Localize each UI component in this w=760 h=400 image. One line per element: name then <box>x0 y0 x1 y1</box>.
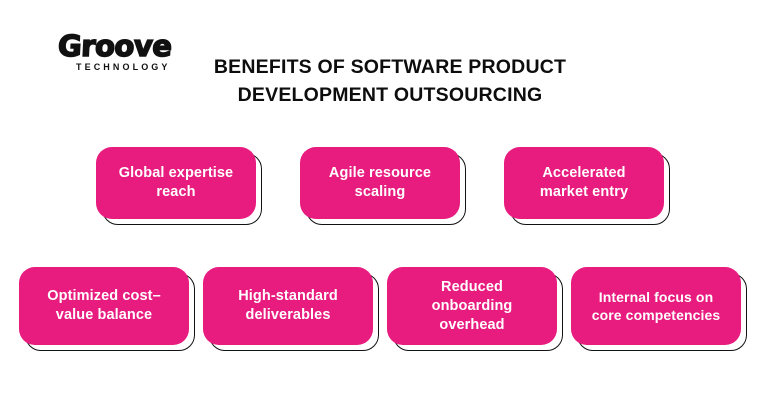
page-title: BENEFITS OF SOFTWARE PRODUCT DEVELOPMENT… <box>190 53 590 109</box>
benefit-card[interactable]: High-standard deliverables <box>203 267 373 345</box>
groove-technology-logo: Groove TECHNOLOGY <box>58 31 178 72</box>
logo-wordmark: Groove <box>57 31 179 61</box>
benefit-card[interactable]: Internal focus on core competencies <box>571 267 741 345</box>
benefit-card-label: Accelerated market entry <box>540 164 628 202</box>
card-body: High-standard deliverables <box>203 267 373 345</box>
benefit-card[interactable]: Optimized cost– value balance <box>19 267 189 345</box>
benefit-card[interactable]: Reduced onboarding overhead <box>387 267 557 345</box>
benefit-card-label: Optimized cost– value balance <box>47 287 161 325</box>
benefit-card-label: Internal focus on core competencies <box>592 288 721 324</box>
benefit-card[interactable]: Accelerated market entry <box>504 147 664 219</box>
page-title-line-2: DEVELOPMENT OUTSOURCING <box>190 81 590 109</box>
card-body: Global expertise reach <box>96 147 256 219</box>
benefit-card-label: Global expertise reach <box>119 164 233 202</box>
benefit-card-label: Reduced onboarding overhead <box>432 278 513 335</box>
card-body: Reduced onboarding overhead <box>387 267 557 345</box>
card-body: Internal focus on core competencies <box>571 267 741 345</box>
logo-tagline: TECHNOLOGY <box>76 62 178 72</box>
card-body: Agile resource scaling <box>300 147 460 219</box>
benefit-card[interactable]: Global expertise reach <box>96 147 256 219</box>
benefit-row-1: Global expertise reach Agile resource sc… <box>0 147 760 219</box>
benefit-card[interactable]: Agile resource scaling <box>300 147 460 219</box>
infographic-canvas: Groove TECHNOLOGY BENEFITS OF SOFTWARE P… <box>0 0 760 400</box>
header: Groove TECHNOLOGY BENEFITS OF SOFTWARE P… <box>0 0 760 125</box>
benefit-card-label: High-standard deliverables <box>238 287 338 325</box>
card-body: Accelerated market entry <box>504 147 664 219</box>
benefit-row-2: Optimized cost– value balance High-stand… <box>0 267 760 345</box>
benefit-card-label: Agile resource scaling <box>329 164 431 202</box>
page-title-line-1: BENEFITS OF SOFTWARE PRODUCT <box>190 53 590 81</box>
card-body: Optimized cost– value balance <box>19 267 189 345</box>
